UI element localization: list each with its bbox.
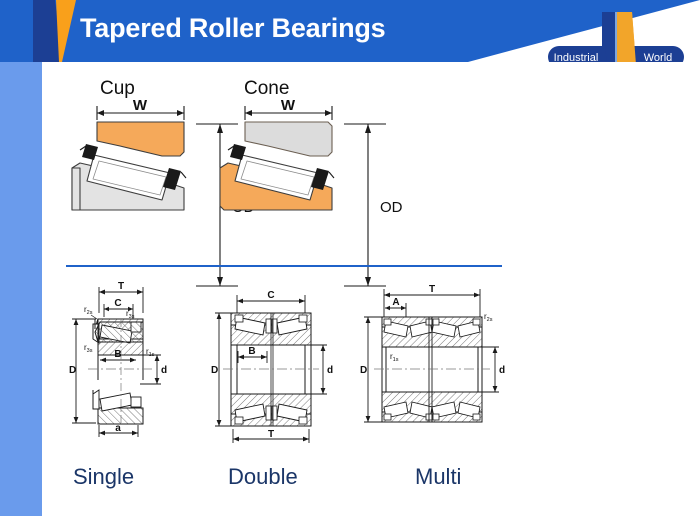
cone-width-label: W [281, 97, 296, 114]
multi-dim-A: A [392, 297, 399, 308]
single-dim-C: C [114, 298, 121, 309]
page-title: Tapered Roller Bearings [80, 13, 386, 44]
single-radius-r3s-left: r3s [84, 343, 93, 354]
single-radius-r1s-right: r1s [146, 347, 155, 358]
cone-od-label: OD [380, 199, 403, 216]
double-dim-D: D [211, 365, 218, 376]
multi-radius-r1s: r1s [390, 352, 399, 363]
multi-dim-T: T [429, 284, 435, 295]
multi-dim-D: D [360, 365, 367, 376]
cup-width-label: W [133, 97, 148, 114]
figure-cone: W OD [210, 100, 430, 305]
single-radius-r2s-top: r2s [84, 305, 93, 316]
double-dim-d: d [327, 365, 333, 376]
slide-root: Tapered Roller Bearings Industrial World [0, 0, 700, 516]
figure-double: C [205, 277, 350, 462]
double-dim-C: C [267, 290, 274, 301]
single-dim-T: T [118, 281, 124, 292]
sidebar-band [0, 62, 42, 516]
double-dim-B: B [248, 346, 255, 357]
single-dim-d: d [161, 365, 167, 376]
single-dim-B: B [114, 349, 121, 360]
figure-single: T C r2s r3s [60, 277, 210, 462]
category-label-double: Double [228, 464, 298, 490]
category-label-multi: Multi [415, 464, 461, 490]
figure-heading-cup: Cup [100, 78, 135, 100]
multi-dim-d: d [499, 365, 505, 376]
multi-radius-r2s: r2s [484, 312, 493, 323]
figure-multi: T A r2s [352, 277, 512, 462]
single-dim-D: D [69, 365, 76, 376]
slide-body: Cup Cone [42, 62, 700, 516]
section-divider [66, 265, 502, 267]
double-dim-T: T [268, 429, 274, 440]
category-label-single: Single [73, 464, 134, 490]
single-dim-a: a [115, 423, 121, 434]
